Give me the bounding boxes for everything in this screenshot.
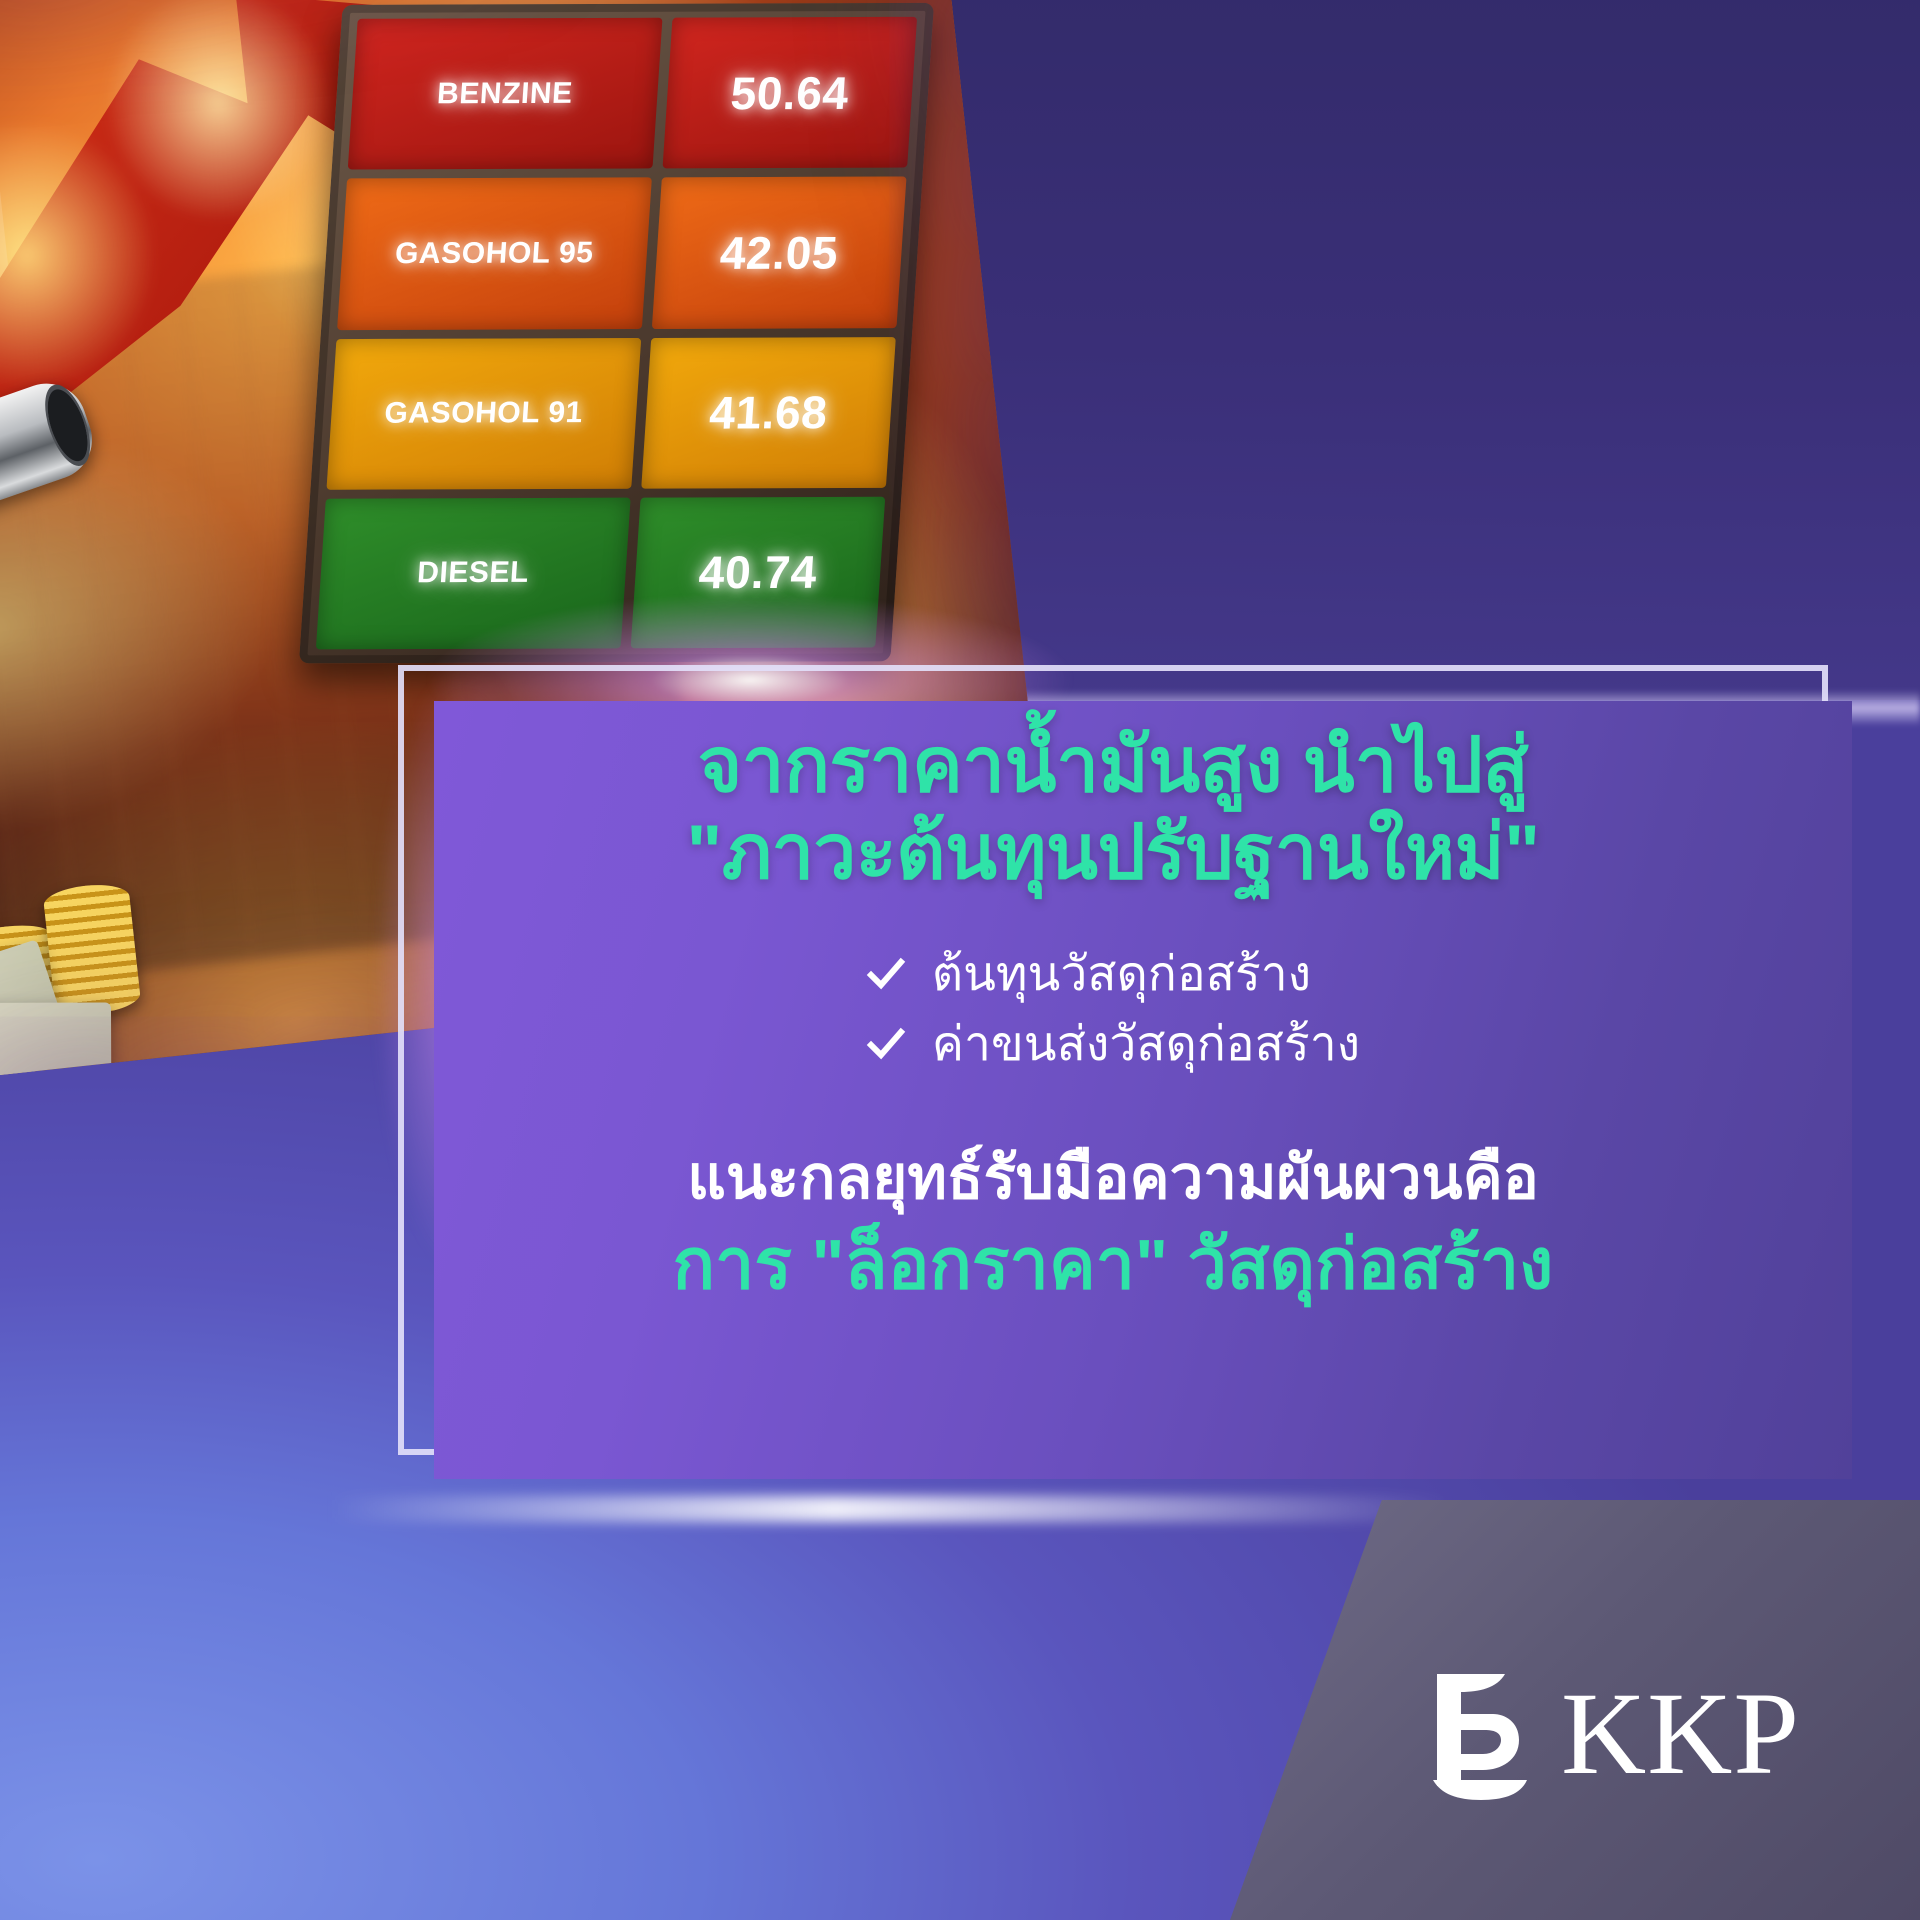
price-board-row: BENZINE50.64 [348,17,918,170]
list-item: ต้นทุนวัสดุก่อสร้าง [866,940,1360,1010]
card-content: จากราคาน้ำมันสูง นำไปสู่ "ภาวะต้นทุนปรับ… [404,671,1822,1306]
nozzle-spout [0,373,104,558]
check-icon [866,1025,906,1065]
price-board-row: GASOHOL 9542.05 [337,177,907,330]
headline-line-2: "ภาวะต้นทุนปรับฐานใหม่" [686,810,1539,895]
price-board-row: GASOHOL 9141.68 [326,337,896,490]
page-title: จากราคาน้ำมันสูง นำไปสู่ "ภาวะต้นทุนปรับ… [434,723,1792,896]
fuel-name: BENZINE [348,18,662,170]
price-board-row: DIESEL40.74 [316,497,886,650]
brand-logo: KKP [1427,1668,1800,1800]
coin-stack-icon [42,882,141,1019]
kkp-logo-mark-icon [1427,1668,1535,1800]
strategy-kicker: แนะกลยุทธ์รับมือความผันผวนคือ [434,1142,1792,1214]
infographic-canvas: BENZINE50.64GASOHOL 9542.05GASOHOL 9141.… [0,0,1920,1920]
headline-line-1: จากราคาน้ำมันสูง นำไปสู่ [698,723,1529,808]
list-item-label: ค่าขนส่งวัสดุก่อสร้าง [932,1010,1360,1080]
list-item-label: ต้นทุนวัสดุก่อสร้าง [932,940,1311,1010]
fuel-name: GASOHOL 91 [326,338,640,490]
fuel-name: DIESEL [316,497,630,649]
fuel-price: 40.74 [630,497,885,649]
content-card: จากราคาน้ำมันสูง นำไปสู่ "ภาวะต้นทุนปรับ… [398,665,1828,1455]
price-board-rows: BENZINE50.64GASOHOL 9542.05GASOHOL 9141.… [316,17,918,650]
benefit-list: ต้นทุนวัสดุก่อสร้างค่าขนส่งวัสดุก่อสร้าง [866,940,1360,1080]
brand-name: KKP [1561,1681,1800,1787]
fuel-price-board: BENZINE50.64GASOHOL 9542.05GASOHOL 9141.… [299,3,935,664]
fuel-price: 42.05 [651,177,906,329]
fuel-price: 41.68 [641,337,896,489]
money-pile [0,737,300,1094]
fuel-price: 50.64 [662,17,917,169]
check-icon [866,955,906,995]
strategy-punchline: การ "ล็อกราคา" วัสดุก่อสร้าง [434,1222,1792,1306]
fuel-name: GASOHOL 95 [337,178,651,330]
card-underglow-streak [330,1496,1450,1522]
list-item: ค่าขนส่งวัสดุก่อสร้าง [866,1010,1360,1080]
